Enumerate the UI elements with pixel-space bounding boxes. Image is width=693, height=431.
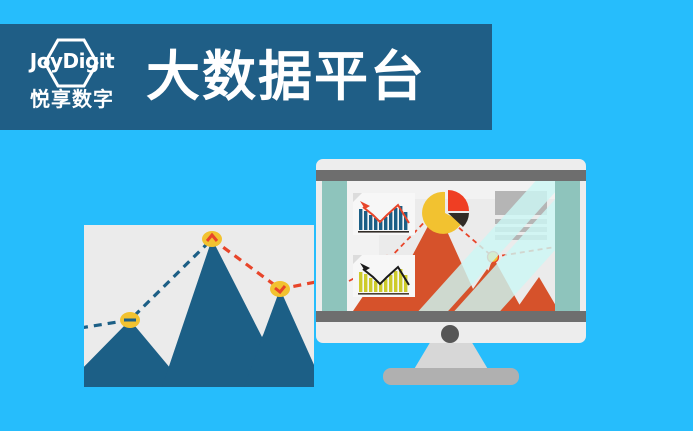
blue-bar-chart-card (353, 193, 415, 235)
monitor-stand-base (383, 368, 519, 385)
monitor-stand-neck (413, 343, 489, 371)
arrow-head-icon (360, 201, 370, 209)
chart-axis (358, 293, 409, 295)
mountain-trend-panel (84, 225, 314, 387)
logo-subtitle: 悦享数字 (16, 89, 128, 109)
brand-logo: JoyDigit 悦享数字 (16, 35, 128, 119)
chart-axis (358, 231, 409, 233)
header-band: JoyDigit 悦享数字 大数据平台 (0, 24, 492, 130)
monitor-power-button[interactable] (441, 325, 459, 343)
mountain-trend-chart (84, 225, 314, 387)
page-title: 大数据平台 (146, 50, 426, 104)
poster-canvas: JoyDigit 悦享数字 大数据平台 (0, 0, 693, 431)
monitor-top-bar (316, 170, 586, 181)
dashboard-content (347, 181, 555, 311)
pie-slice-red (448, 190, 469, 211)
arrow-head-icon (360, 263, 370, 271)
olive-bar-chart (353, 255, 415, 297)
olive-bar-chart-card (353, 255, 415, 297)
logo-wordmark: JoyDigit (16, 51, 128, 71)
monitor-bottom-bar (316, 311, 586, 322)
logo-wordmark-text: JoyDigit (30, 49, 114, 73)
monitor-screen (322, 181, 580, 311)
pie-chart (422, 189, 472, 239)
screen-side-band-left (322, 181, 347, 311)
screen-side-band-right (555, 181, 580, 311)
blue-bar-chart (353, 193, 415, 235)
desktop-monitor (316, 159, 586, 343)
data-point-marker (270, 281, 290, 297)
